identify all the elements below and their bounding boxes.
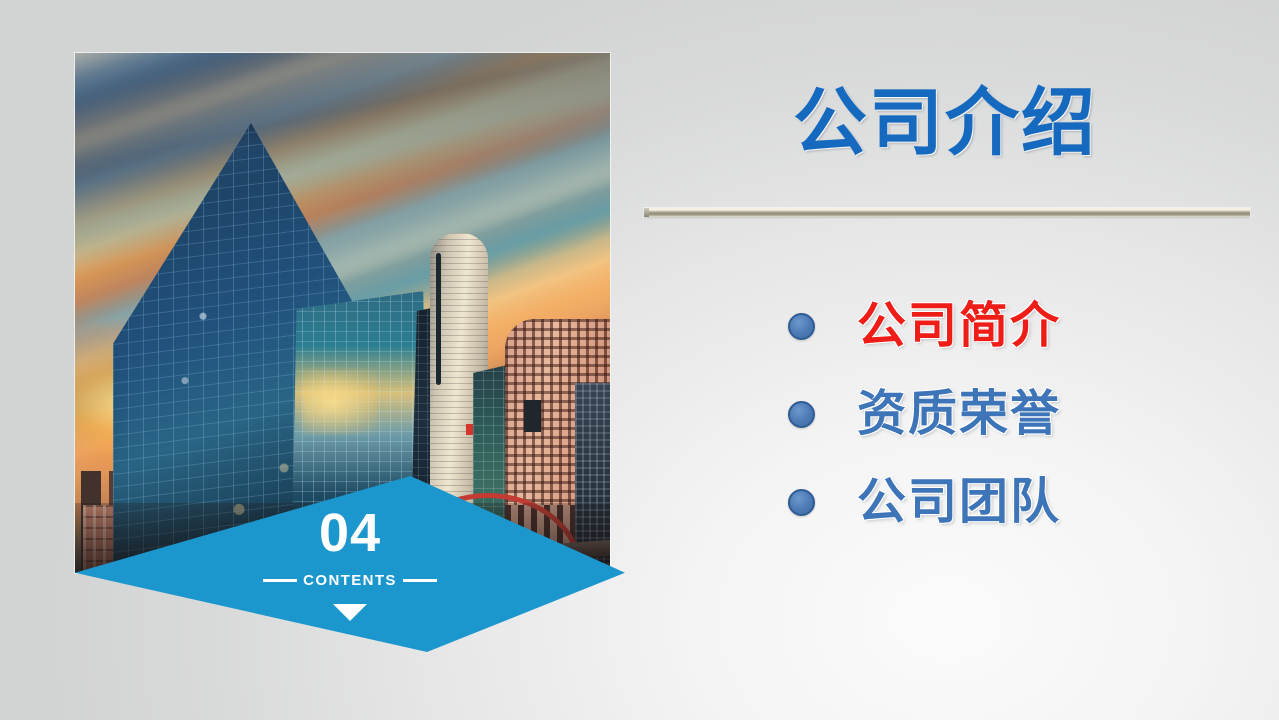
contents-rule-left bbox=[263, 579, 297, 582]
presentation-slide: 04 CONTENTS 公司介绍 公司简介 资质荣誉 公司团队 bbox=[0, 0, 1279, 720]
agenda-item-label: 公司简介 bbox=[857, 302, 1061, 351]
city-skyline-photo bbox=[75, 53, 610, 573]
agenda-item-label: 资质荣誉 bbox=[857, 390, 1061, 439]
contents-rule-right bbox=[403, 579, 437, 582]
title-divider-cap bbox=[644, 208, 649, 217]
agenda-list: 公司简介 资质荣誉 公司团队 bbox=[640, 282, 1250, 546]
agenda-item-label: 公司团队 bbox=[857, 478, 1061, 527]
page-title: 公司介绍 bbox=[640, 84, 1250, 162]
bullet-dot-icon bbox=[788, 401, 815, 428]
title-divider bbox=[644, 208, 1250, 217]
agenda-item-qualifications[interactable]: 资质荣誉 bbox=[640, 370, 1250, 458]
contents-label-row: CONTENTS bbox=[75, 572, 625, 589]
contents-label: CONTENTS bbox=[303, 572, 397, 589]
agenda-item-team[interactable]: 公司团队 bbox=[640, 458, 1250, 546]
down-caret-icon bbox=[333, 604, 367, 621]
agenda-item-company-profile[interactable]: 公司简介 bbox=[640, 282, 1250, 370]
bullet-dot-icon bbox=[788, 313, 815, 340]
bullet-dot-icon bbox=[788, 489, 815, 516]
